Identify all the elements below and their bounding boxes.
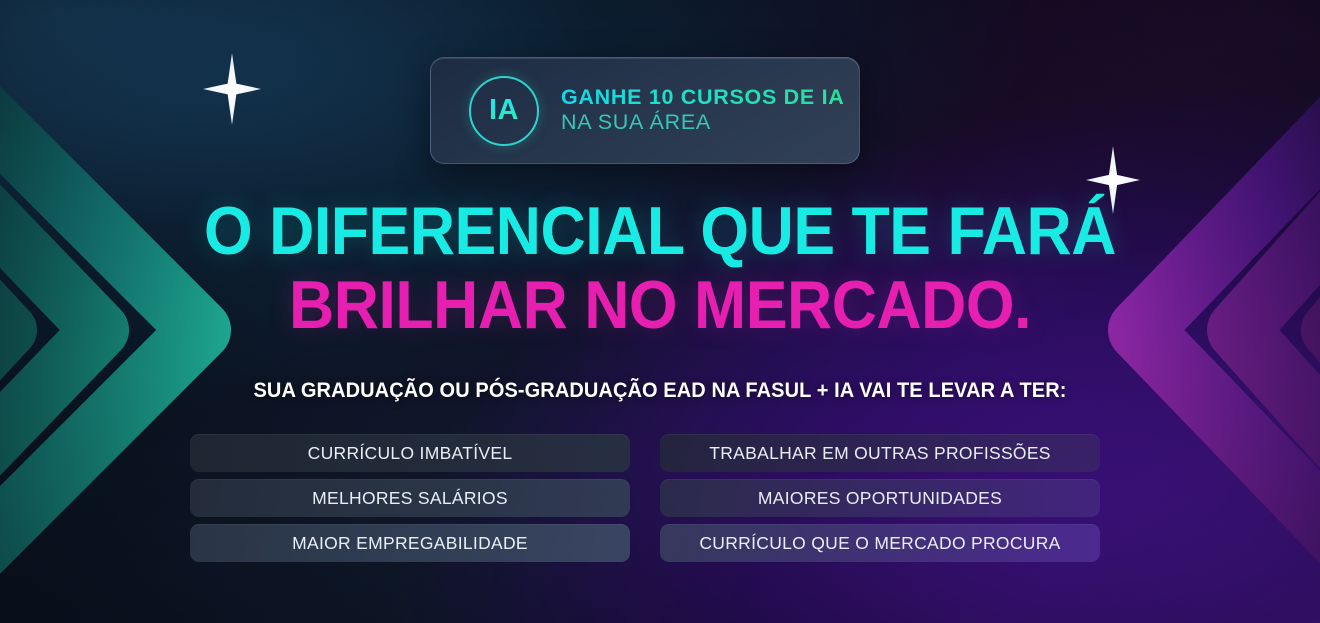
headline-line-2: BRILHAR NO MERCADO. xyxy=(53,272,1267,339)
subheading: SUA GRADUAÇÃO OU PÓS-GRADUAÇÃO EAD NA FA… xyxy=(46,378,1274,403)
badge-headline: GANHE 10 CURSOS DE IA xyxy=(561,85,845,110)
benefit-pill-left-2[interactable]: MELHORES SALÁRIOS xyxy=(190,479,630,517)
headline-block: O DIFERENCIAL QUE TE FARÁ BRILHAR NO MER… xyxy=(0,198,1320,338)
benefit-pill-left-3[interactable]: MAIOR EMPREGABILIDADE xyxy=(190,524,630,562)
benefit-pill-right-2[interactable]: MAIORES OPORTUNIDADES xyxy=(660,479,1100,517)
benefit-pill-right-1[interactable]: TRABALHAR EM OUTRAS PROFISSÕES xyxy=(660,434,1100,472)
promo-banner: IA GANHE 10 CURSOS DE IA NA SUA ÁREA O D… xyxy=(0,0,1320,623)
headline-line-1: O DIFERENCIAL QUE TE FARÁ xyxy=(53,198,1267,265)
ai-courses-badge[interactable]: IA GANHE 10 CURSOS DE IA NA SUA ÁREA xyxy=(430,57,860,164)
badge-text-block: GANHE 10 CURSOS DE IA NA SUA ÁREA xyxy=(561,85,845,135)
ia-emblem-label: IA xyxy=(489,96,519,125)
benefit-pill-left-1[interactable]: CURRÍCULO IMBATÍVEL xyxy=(190,434,630,472)
ia-emblem-icon: IA xyxy=(469,76,539,146)
benefit-pill-right-3[interactable]: CURRÍCULO QUE O MERCADO PROCURA xyxy=(660,524,1100,562)
benefits-grid: CURRÍCULO IMBATÍVEL TRABALHAR EM OUTRAS … xyxy=(190,434,1100,562)
badge-subline: NA SUA ÁREA xyxy=(561,110,845,136)
